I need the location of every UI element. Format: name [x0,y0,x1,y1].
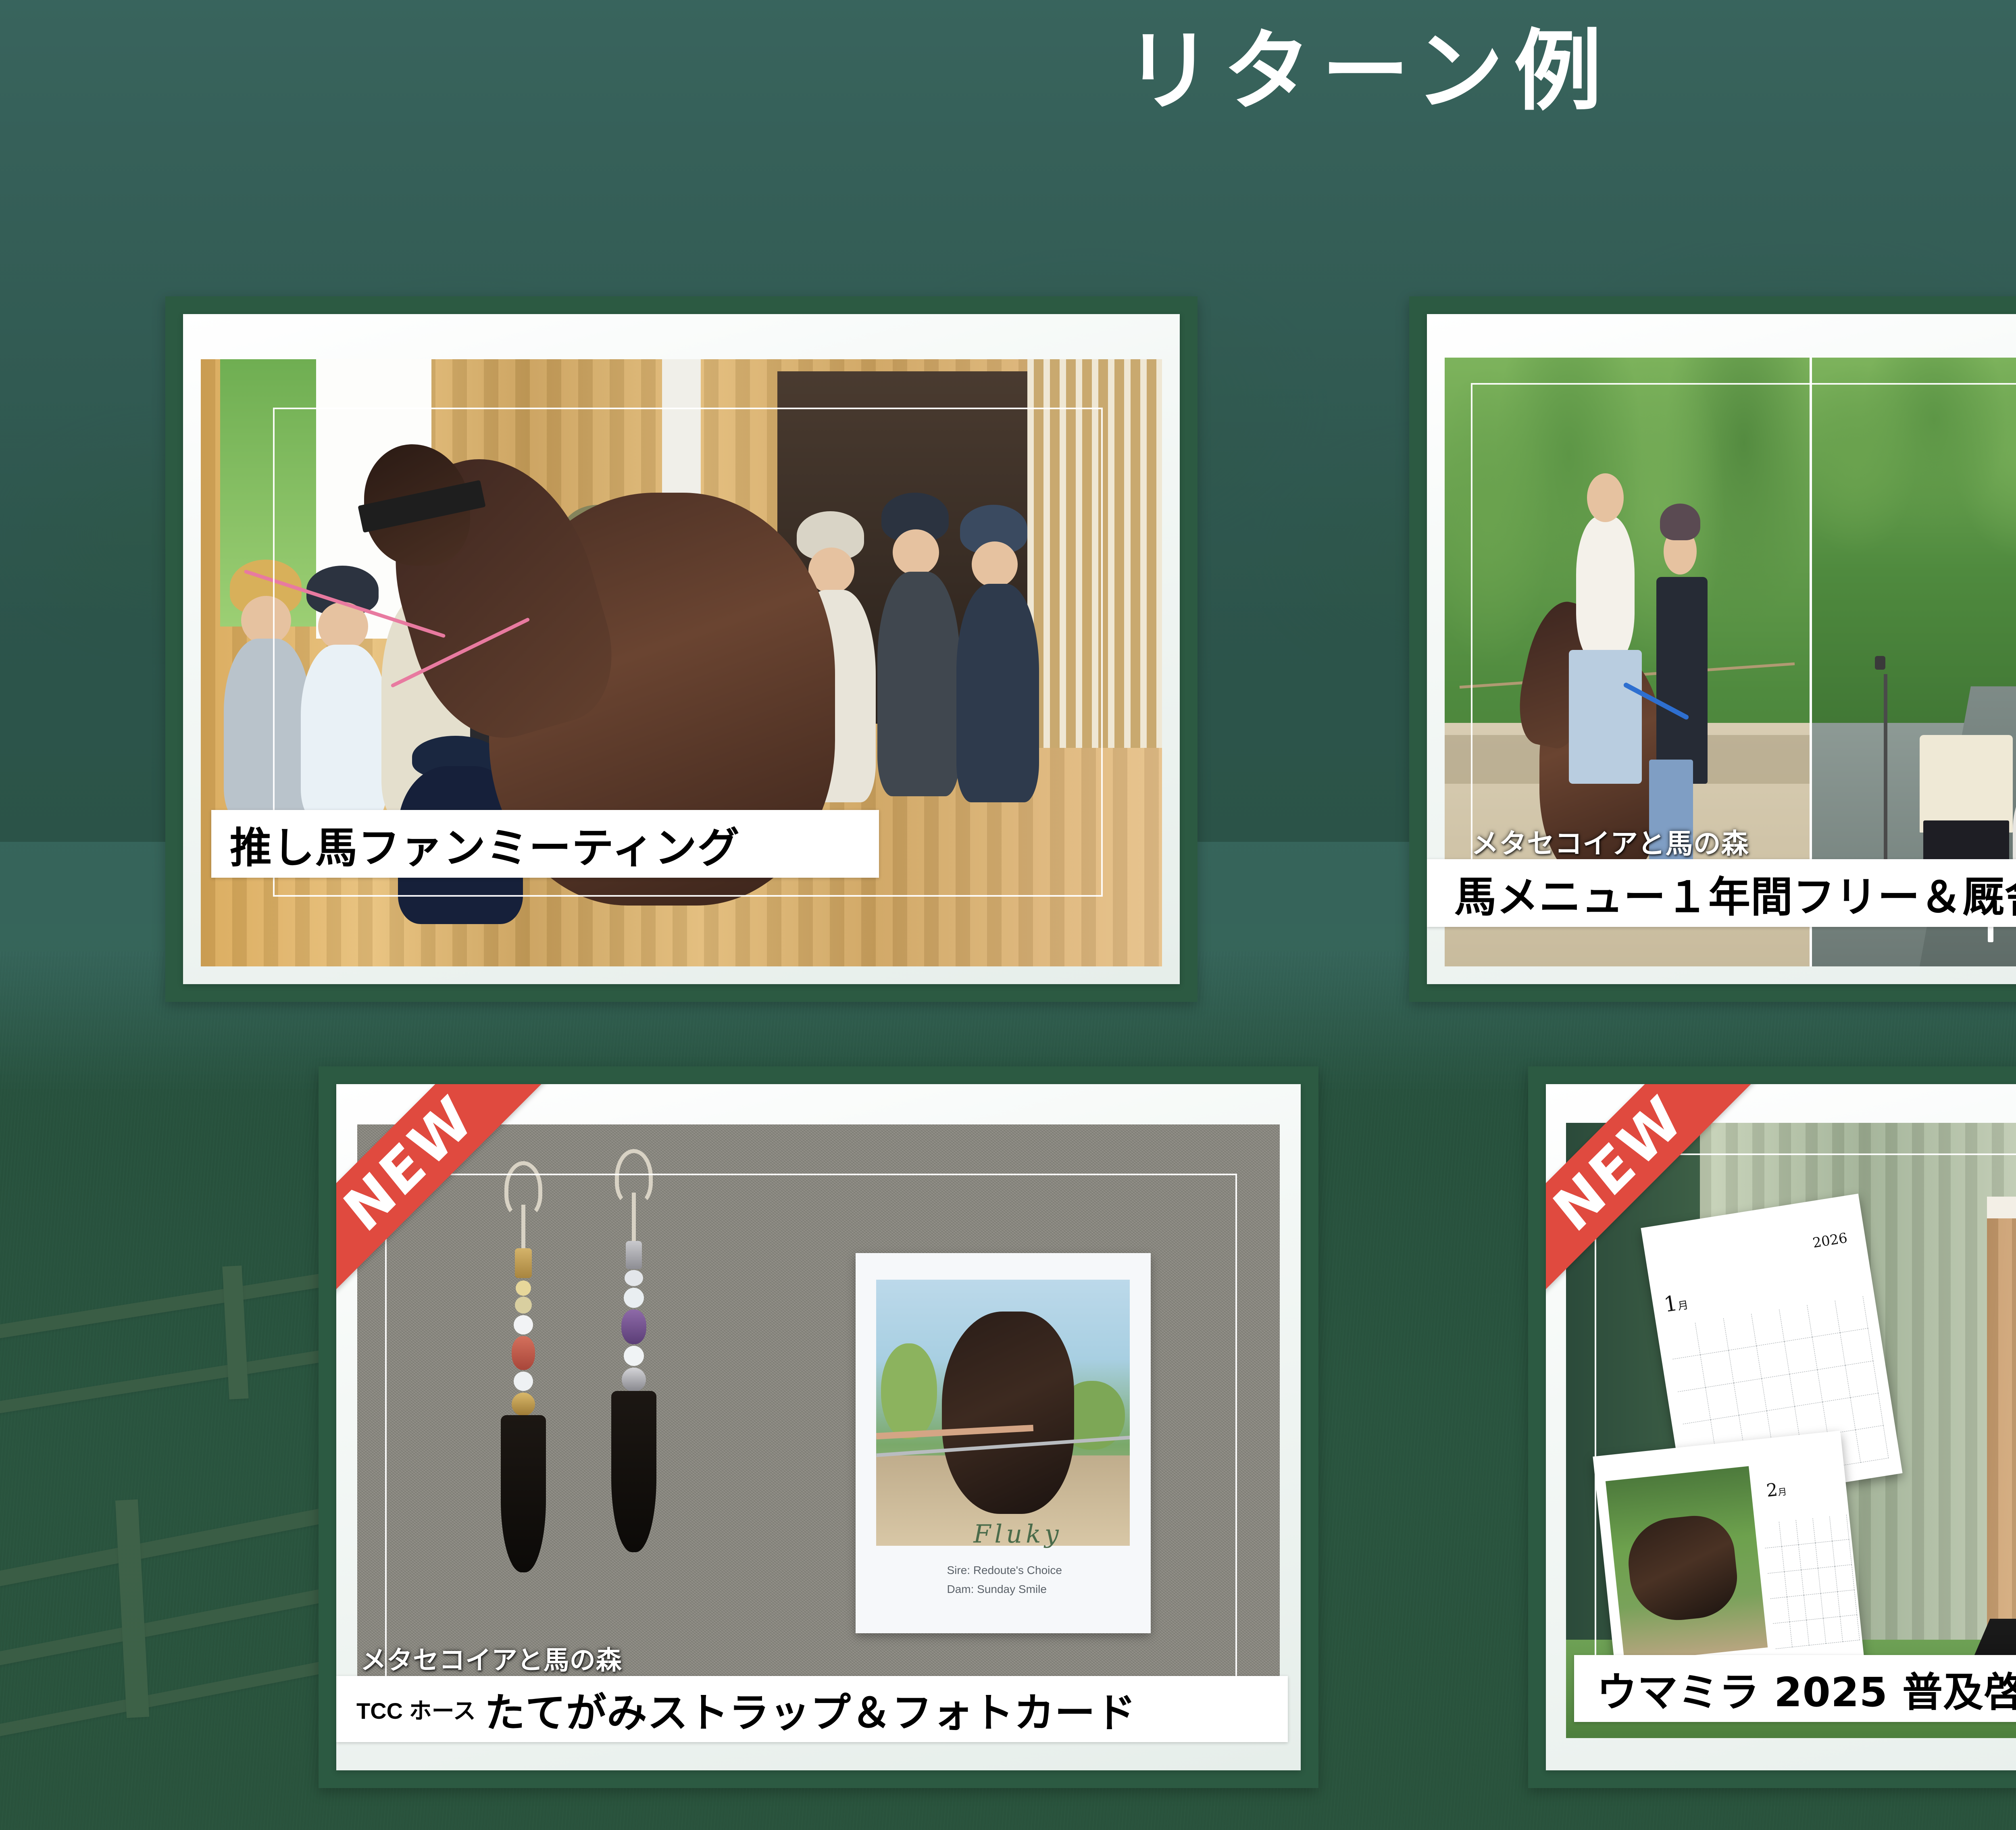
card-frame: 推し馬ファンミーティング [183,314,1180,984]
page-title: リターン例 [0,17,2016,127]
card-photo-calendar: 1月 2026 [1566,1123,2016,1738]
card-caption-text: ウマミラ 2025 普及啓発カレンダー [1597,1659,2016,1718]
card-caption-text: 推し馬ファンミーティング [230,814,740,874]
photo-card-dam: Dam: Sunday Smile [947,1582,1046,1597]
photo-card-horse-name: Fluky [973,1519,1062,1549]
card-sub-label: メタセコイアと馬の森 [1471,821,1749,861]
return-card-calendar[interactable]: 1月 2026 [1528,1066,2016,1788]
card-caption-prefix: TCC ホース [356,1693,476,1726]
card-frame: メタセコイアと馬の森 馬メニュー１年間フリー＆厩舎見学 同伴無料 [1427,314,2016,984]
card-sub-label: メタセコイアと馬の森 [360,1640,622,1677]
horse-photo-card: Fluky Sire: Redoute's Choice Dam: Sunday… [856,1253,1151,1633]
card-frame: Fluky Sire: Redoute's Choice Dam: Sunday… [336,1084,1301,1770]
card-caption-band: TCC ホース たてがみストラップ＆フォトカード [336,1676,1288,1742]
card-caption-band: ウマミラ 2025 普及啓発カレンダー [1574,1655,2016,1722]
desk-calendar: uma uma no mirai action 2025 馬のみらいアクション … [1987,1197,2016,1627]
calendar-month-label: 2月 [1765,1478,1787,1501]
card-caption-text: たてがみストラップ＆フォトカード [485,1680,1136,1738]
card-caption-text: 馬メニュー１年間フリー＆厩舎見学 同伴無料 [1454,863,2016,924]
card-caption-band: 馬メニュー１年間フリー＆厩舎見学 同伴無料 [1427,859,2016,927]
photo-card-sire: Sire: Redoute's Choice [947,1563,1062,1578]
card-caption-band: 推し馬ファンミーティング [211,810,879,878]
return-card-fan-meeting[interactable]: 推し馬ファンミーティング [165,296,1198,1002]
card-frame: 1月 2026 [1546,1084,2016,1770]
return-card-horse-menu[interactable]: メタセコイアと馬の森 馬メニュー１年間フリー＆厩舎見学 同伴無料 [1409,296,2016,1002]
return-card-mane-strap[interactable]: Fluky Sire: Redoute's Choice Dam: Sunday… [319,1066,1318,1788]
calendar-month-label: 1月 [1662,1290,1690,1318]
mane-strap-item [560,1149,708,1676]
photo-card-image [876,1280,1130,1546]
calendar-day-grid [1762,1514,1860,1649]
calendar-page-february: 2月 [1593,1430,1864,1689]
calendar-year-label: 2026 [1812,1230,1849,1251]
